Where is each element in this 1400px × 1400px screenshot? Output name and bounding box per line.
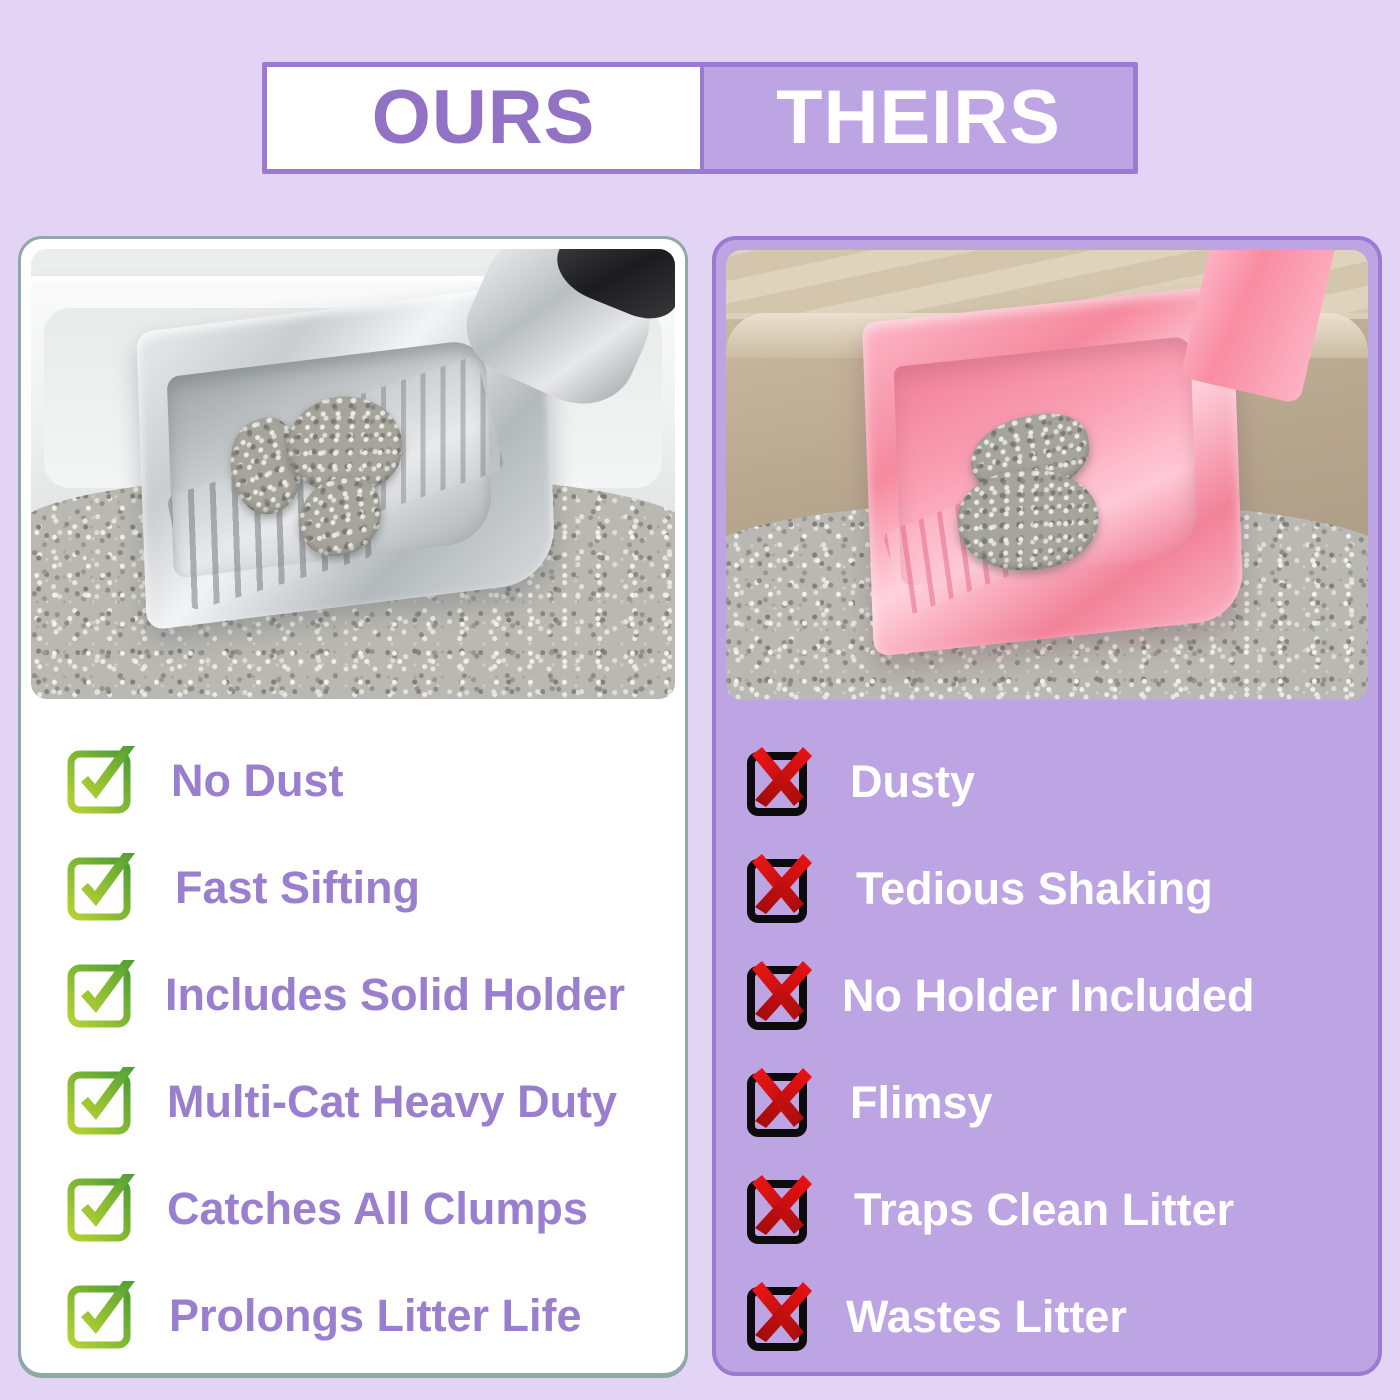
red-cross-icon (746, 749, 812, 815)
ours-feature-label: Prolongs Litter Life (169, 1292, 582, 1339)
theirs-product-photo (726, 250, 1368, 700)
ours-feature-row: Fast Sifting (21, 851, 685, 925)
green-check-icon (67, 1172, 141, 1246)
theirs-comparison-card: Dusty Tedious Shaking No Holder Incl (712, 236, 1382, 1376)
pink-scoop-body (862, 284, 1244, 657)
ours-feature-row: Catches All Clumps (21, 1172, 685, 1246)
theirs-photo-frame (716, 240, 1378, 710)
ours-feature-label: Catches All Clumps (167, 1185, 588, 1232)
theirs-feature-label: Wastes Litter (846, 1293, 1127, 1340)
banner-half-theirs: THEIRS (700, 67, 1133, 169)
theirs-feature-label: Tedious Shaking (856, 865, 1213, 912)
ours-product-photo (31, 249, 675, 699)
ours-feature-row: Prolongs Litter Life (21, 1279, 685, 1353)
theirs-feature-row: Tedious Shaking (716, 856, 1378, 922)
ours-feature-label: Includes Solid Holder (165, 971, 625, 1018)
ours-comparison-card: No Dust Fast Sifting Includes Solid Hold… (18, 236, 688, 1376)
theirs-feature-row: Wastes Litter (716, 1284, 1378, 1350)
red-cross-icon (746, 1070, 812, 1136)
ours-feature-row: No Dust (21, 744, 685, 818)
banner-label-theirs: THEIRS (776, 80, 1061, 156)
ours-feature-label: No Dust (171, 757, 344, 804)
banner-half-ours: OURS (267, 67, 700, 169)
comparison-header-banner: OURS THEIRS (262, 62, 1138, 174)
green-check-icon (67, 1065, 141, 1139)
red-cross-icon (746, 963, 812, 1029)
red-cross-icon (746, 1284, 812, 1350)
green-check-icon (67, 1279, 141, 1353)
theirs-feature-row: Flimsy (716, 1070, 1378, 1136)
theirs-feature-label: Flimsy (850, 1079, 993, 1126)
theirs-feature-row: Traps Clean Litter (716, 1177, 1378, 1243)
ours-feature-label: Fast Sifting (175, 864, 420, 911)
ours-feature-row: Multi-Cat Heavy Duty (21, 1065, 685, 1139)
theirs-feature-label: Traps Clean Litter (854, 1186, 1234, 1233)
theirs-feature-label: No Holder Included (842, 972, 1255, 1019)
theirs-feature-row: Dusty (716, 749, 1378, 815)
theirs-feature-label: Dusty (850, 758, 975, 805)
green-check-icon (67, 851, 141, 925)
red-cross-icon (746, 1177, 812, 1243)
theirs-feature-row: No Holder Included (716, 963, 1378, 1029)
ours-photo-frame (21, 239, 685, 709)
theirs-feature-list: Dusty Tedious Shaking No Holder Incl (716, 710, 1378, 1376)
green-check-icon (67, 958, 141, 1032)
red-cross-icon (746, 856, 812, 922)
ours-feature-label: Multi-Cat Heavy Duty (167, 1078, 617, 1125)
green-check-icon (67, 744, 141, 818)
banner-label-ours: OURS (372, 80, 596, 156)
ours-feature-list: No Dust Fast Sifting Includes Solid Hold… (21, 709, 685, 1376)
ours-feature-row: Includes Solid Holder (21, 958, 685, 1032)
